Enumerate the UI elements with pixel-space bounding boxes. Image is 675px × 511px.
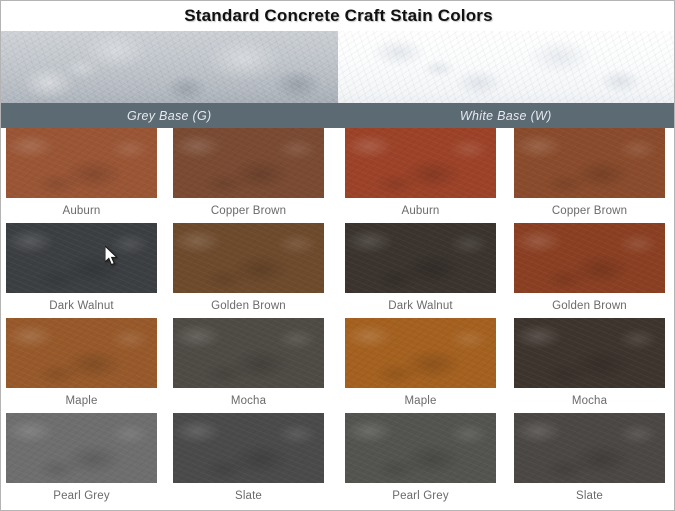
swatch-label: Copper Brown: [173, 198, 324, 223]
swatch-grid: Auburn Copper Brown Auburn Copper Brown …: [1, 128, 674, 510]
swatch-label: Maple: [345, 388, 496, 413]
color-swatch[interactable]: [345, 413, 496, 483]
swatch-texture-overlay: [345, 223, 496, 293]
swatch-cell[interactable]: Slate: [173, 413, 324, 508]
base-header-white: White Base (W): [338, 103, 675, 128]
swatch-row: Dark Walnut Golden Brown Dark Walnut Gol…: [1, 223, 674, 318]
swatch-texture-overlay: [345, 318, 496, 388]
color-swatch[interactable]: [345, 223, 496, 293]
base-header-grey: Grey Base (G): [1, 103, 338, 128]
swatch-texture-overlay: [6, 223, 157, 293]
swatch-cell[interactable]: Maple: [6, 318, 157, 413]
swatch-texture-overlay: [345, 413, 496, 483]
swatch-label: Mocha: [514, 388, 665, 413]
swatch-label: Dark Walnut: [345, 293, 496, 318]
swatch-label: Dark Walnut: [6, 293, 157, 318]
swatch-cell[interactable]: Slate: [514, 413, 665, 508]
page-title-bar: Standard Concrete Craft Stain Colors: [1, 1, 675, 31]
swatch-texture-overlay: [6, 128, 157, 198]
swatch-label: Auburn: [6, 198, 157, 223]
color-swatch[interactable]: [6, 223, 157, 293]
color-swatch[interactable]: [514, 318, 665, 388]
page-title: Standard Concrete Craft Stain Colors: [184, 6, 493, 26]
swatch-label: Copper Brown: [514, 198, 665, 223]
swatch-texture-overlay: [173, 223, 324, 293]
color-swatch[interactable]: [514, 223, 665, 293]
color-swatch[interactable]: [514, 128, 665, 198]
swatch-label: Pearl Grey: [345, 483, 496, 508]
white-texture-speckle: [338, 31, 674, 103]
swatch-cell[interactable]: Maple: [345, 318, 496, 413]
swatch-cell[interactable]: Auburn: [6, 128, 157, 223]
color-swatch[interactable]: [345, 318, 496, 388]
swatch-row: Pearl Grey Slate Pearl Grey Slate: [1, 413, 674, 508]
base-label-grey: Grey Base (G): [127, 109, 211, 123]
swatch-label: Slate: [173, 483, 324, 508]
swatch-cell[interactable]: Golden Brown: [173, 223, 324, 318]
grey-concrete-texture-icon: [1, 31, 338, 103]
swatch-row: Maple Mocha Maple Mocha: [1, 318, 674, 413]
base-label-white: White Base (W): [460, 109, 552, 123]
color-swatch[interactable]: [6, 413, 157, 483]
swatch-label: Auburn: [345, 198, 496, 223]
swatch-label: Maple: [6, 388, 157, 413]
swatch-cell[interactable]: Mocha: [173, 318, 324, 413]
swatch-texture-overlay: [514, 413, 665, 483]
base-label-band: Grey Base (G) White Base (W): [1, 103, 674, 128]
color-swatch[interactable]: [173, 318, 324, 388]
swatch-row: Auburn Copper Brown Auburn Copper Brown: [1, 128, 674, 223]
swatch-texture-overlay: [6, 413, 157, 483]
swatch-texture-overlay: [173, 413, 324, 483]
color-swatch[interactable]: [514, 413, 665, 483]
swatch-cell[interactable]: Dark Walnut: [6, 223, 157, 318]
swatch-texture-overlay: [514, 223, 665, 293]
color-swatch[interactable]: [173, 128, 324, 198]
swatch-label: Mocha: [173, 388, 324, 413]
swatch-cell[interactable]: Pearl Grey: [6, 413, 157, 508]
swatch-label: Slate: [514, 483, 665, 508]
color-swatch[interactable]: [345, 128, 496, 198]
swatch-texture-overlay: [6, 318, 157, 388]
swatch-cell[interactable]: Auburn: [345, 128, 496, 223]
swatch-texture-overlay: [173, 318, 324, 388]
swatch-cell[interactable]: Pearl Grey: [345, 413, 496, 508]
swatch-cell[interactable]: Golden Brown: [514, 223, 665, 318]
swatch-texture-overlay: [514, 128, 665, 198]
color-swatch[interactable]: [173, 413, 324, 483]
swatch-label: Golden Brown: [173, 293, 324, 318]
color-swatch[interactable]: [6, 318, 157, 388]
swatch-cell[interactable]: Copper Brown: [173, 128, 324, 223]
concrete-texture-banner: [1, 31, 674, 103]
swatch-texture-overlay: [514, 318, 665, 388]
swatch-label: Pearl Grey: [6, 483, 157, 508]
stain-color-chart-page: Standard Concrete Craft Stain Colors Gre…: [0, 0, 675, 511]
swatch-cell[interactable]: Copper Brown: [514, 128, 665, 223]
swatch-cell[interactable]: Dark Walnut: [345, 223, 496, 318]
swatch-label: Golden Brown: [514, 293, 665, 318]
color-swatch[interactable]: [173, 223, 324, 293]
swatch-cell[interactable]: Mocha: [514, 318, 665, 413]
color-swatch[interactable]: [6, 128, 157, 198]
swatch-texture-overlay: [173, 128, 324, 198]
white-concrete-texture-icon: [338, 31, 674, 103]
grey-texture-speckle: [1, 31, 338, 103]
swatch-texture-overlay: [345, 128, 496, 198]
